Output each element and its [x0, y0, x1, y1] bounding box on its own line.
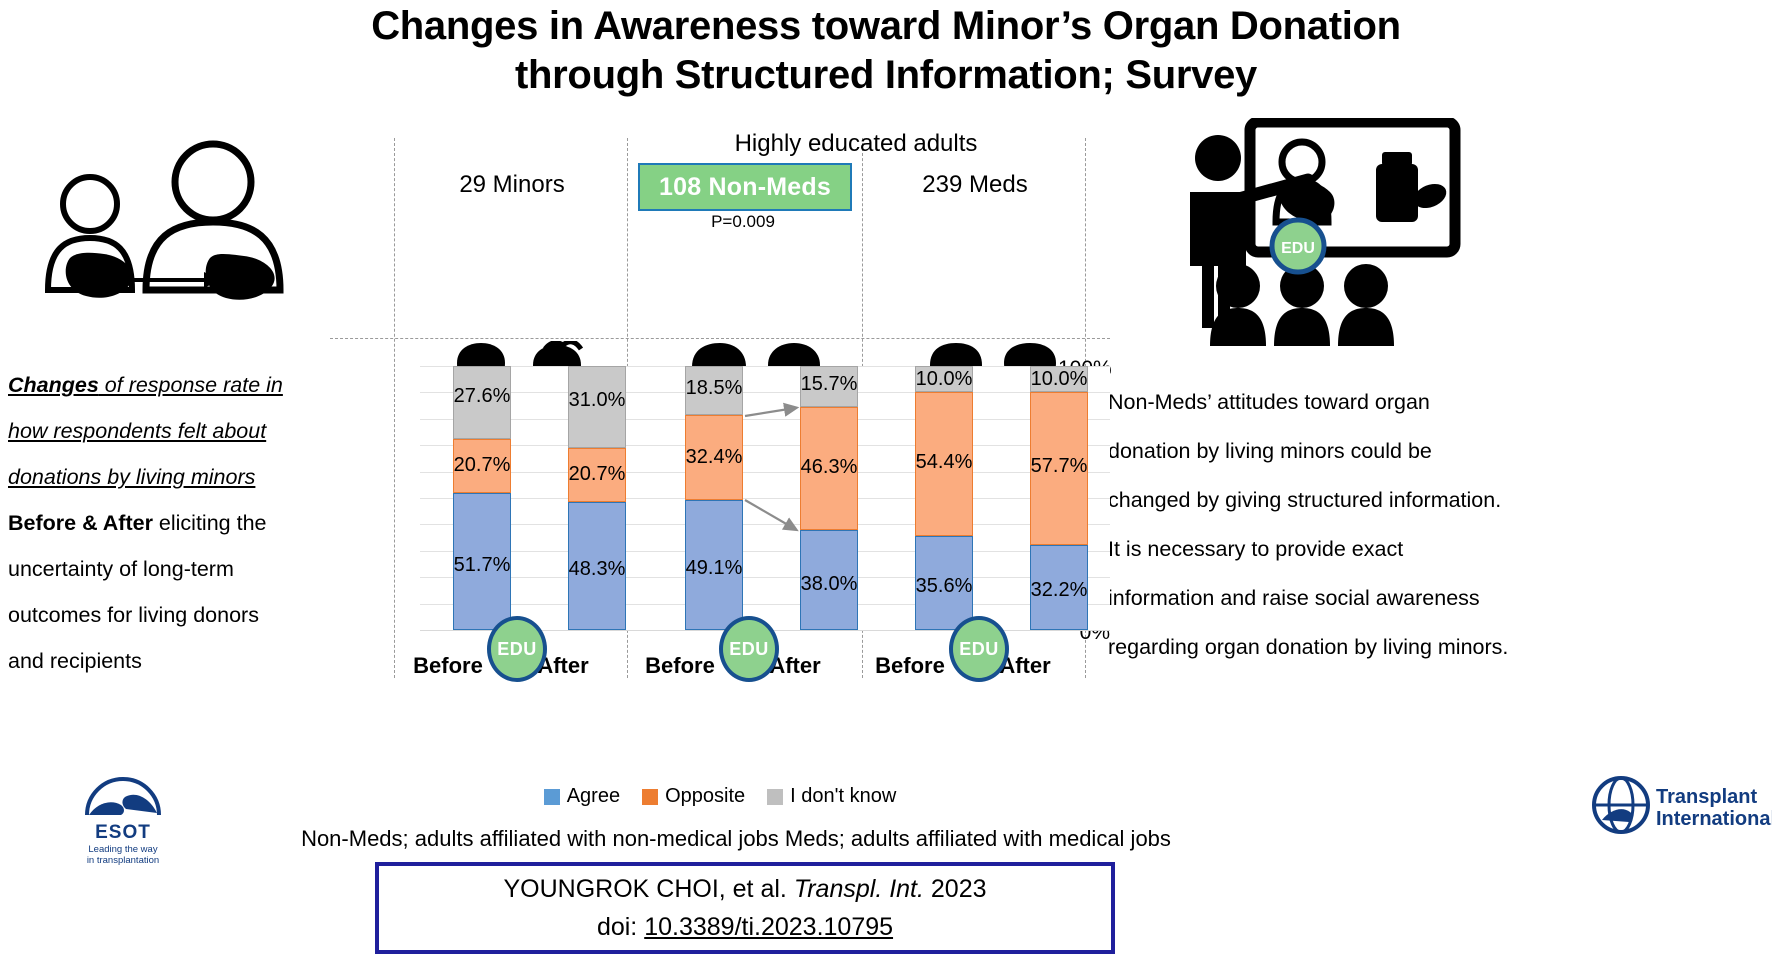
title-line-2: through Structured Information; Survey	[0, 51, 1772, 100]
left-text-line-7: and recipients	[8, 638, 328, 684]
svg-text:EDU: EDU	[1281, 240, 1315, 257]
title-line-1: Changes in Awareness toward Minor’s Orga…	[371, 4, 1401, 48]
legend-label-opposite: Opposite	[665, 785, 745, 808]
value-label-opposite: 46.3%	[801, 456, 858, 479]
citation-journal: Transpl. Int.	[794, 875, 924, 903]
gridline-70	[420, 445, 1110, 446]
segment-idk[interactable]: 10.0%	[1030, 366, 1088, 392]
citation-authors: YOUNGROK CHOI, et al.	[503, 875, 786, 903]
divider-horizontal	[330, 338, 1110, 339]
graphical-abstract-page: Changes in Awareness toward Minor’s Orga…	[0, 0, 1772, 964]
right-text-line-3: changed by giving structured information…	[1108, 476, 1768, 525]
chart-panel: Highly educated adults 29 Minors 108 Non…	[330, 128, 1110, 688]
value-label-agree: 49.1%	[686, 557, 743, 580]
value-label-idk: 10.0%	[916, 368, 973, 391]
esot-name: ESOT	[95, 822, 151, 844]
segment-agree[interactable]: 48.3%	[568, 502, 626, 630]
left-text-line-5: uncertainty of long-term	[8, 546, 328, 592]
xtick-minors-before: Before	[393, 653, 503, 679]
citation-box: YOUNGROK CHOI, et al. Transpl. Int. 2023…	[375, 862, 1115, 954]
left-description-text: Changes of response rate in how responde…	[8, 362, 328, 684]
legend-item-agree: Agree	[544, 785, 620, 808]
transplant-international-logo: Transplant International	[1590, 768, 1765, 880]
esot-tagline: Leading the way in transplantation	[87, 844, 159, 866]
value-label-idk: 27.6%	[454, 385, 511, 408]
bar-meds-after[interactable]: 10.0% 57.7% 32.2%	[1030, 366, 1088, 630]
doi-label: doi:	[597, 913, 637, 941]
segment-agree[interactable]: 32.2%	[1030, 545, 1088, 630]
value-label-idk: 31.0%	[569, 389, 626, 412]
highly-educated-label: Highly educated adults	[626, 130, 1086, 158]
bar-nonmeds-after[interactable]: 15.7% 46.3% 38.0%	[800, 366, 858, 630]
gridline-40	[420, 524, 1110, 525]
left-text-line-4: Before & After eliciting the	[8, 500, 328, 546]
legend-item-idk: I don't know	[767, 785, 896, 808]
group-label-minors: 29 Minors	[402, 171, 622, 199]
ti-line-2: International	[1656, 808, 1772, 830]
value-label-opposite: 54.4%	[916, 451, 973, 474]
segment-agree[interactable]: 35.6%	[915, 536, 973, 630]
education-teacher-icon: EDU	[1180, 118, 1470, 348]
legend-swatch-opposite-icon	[642, 789, 658, 805]
right-text-line-2: donation by living minors could be	[1108, 427, 1768, 476]
segment-agree[interactable]: 49.1%	[685, 500, 743, 630]
value-label-agree: 51.7%	[454, 554, 511, 577]
bar-minors-before[interactable]: 27.6% 20.7% 51.7%	[453, 366, 511, 630]
gridline-90	[420, 392, 1110, 393]
bar-minors-after[interactable]: 31.0% 20.7% 48.3%	[568, 366, 626, 630]
legend-label-agree: Agree	[567, 785, 620, 808]
legend-swatch-agree-icon	[544, 789, 560, 805]
xtick-nonmeds-before: Before	[625, 653, 735, 679]
chart-legend: Agree Opposite I don't know	[330, 785, 1110, 808]
left-text-line-2: how respondents felt about	[8, 408, 328, 454]
legend-item-opposite: Opposite	[642, 785, 745, 808]
value-label-agree: 35.6%	[916, 575, 973, 598]
plot-area: 27.6% 20.7% 51.7% 31.0% 20.7% 48.3%	[420, 366, 1110, 630]
gridline-60	[420, 472, 1110, 473]
value-label-agree: 48.3%	[569, 558, 626, 581]
value-label-idk: 15.7%	[801, 373, 858, 396]
edu-badge-meds[interactable]: EDU	[949, 616, 1009, 682]
right-text-line-4: It is necessary to provide exact	[1108, 525, 1768, 574]
esot-logo: ESOT Leading the way in transplantation	[38, 765, 208, 880]
bar-nonmeds-before[interactable]: 18.5% 32.4% 49.1%	[685, 366, 743, 630]
left-text-line-3: donations by living minors	[8, 454, 328, 500]
stacked-bar-chart: 100% 90% 80% 70% 60% 50% 40% 30% 20% 10%…	[365, 366, 1110, 638]
page-title: Changes in Awareness toward Minor’s Orga…	[0, 2, 1772, 100]
ti-line-1: Transplant	[1656, 786, 1772, 808]
value-label-opposite: 20.7%	[569, 463, 626, 486]
segment-idk[interactable]: 27.6%	[453, 366, 511, 439]
right-text-line-6: regarding organ donation by living minor…	[1108, 623, 1768, 672]
value-label-opposite: 57.7%	[1031, 455, 1088, 478]
group-label-nonmeds-highlight[interactable]: 108 Non-Meds	[638, 163, 852, 211]
doi-link[interactable]: 10.3389/ti.2023.10795	[644, 913, 893, 941]
citation-line-2: doi: 10.3389/ti.2023.10795	[597, 908, 893, 946]
gridline-50	[420, 498, 1110, 499]
footnote-definitions: Non-Meds; adults affiliated with non-med…	[0, 826, 1472, 852]
arrow-idk-change	[745, 408, 795, 416]
value-label-opposite: 32.4%	[686, 446, 743, 469]
gridline-20	[420, 577, 1110, 578]
right-conclusion-text: Non-Meds’ attitudes toward organ donatio…	[1108, 378, 1768, 672]
gridline-30	[420, 551, 1110, 552]
segment-opposite[interactable]: 54.4%	[915, 392, 973, 536]
segment-opposite[interactable]: 32.4%	[685, 415, 743, 501]
liver-donation-icon	[28, 140, 328, 335]
gridline-100	[420, 366, 1110, 367]
segment-idk[interactable]: 15.7%	[800, 366, 858, 407]
value-label-agree: 38.0%	[801, 573, 858, 596]
segment-agree[interactable]: 51.7%	[453, 493, 511, 630]
citation-line-1: YOUNGROK CHOI, et al. Transpl. Int. 2023	[503, 870, 986, 908]
group-label-meds: 239 Meds	[875, 171, 1075, 199]
value-label-agree: 32.2%	[1031, 579, 1088, 602]
right-text-line-1: Non-Meds’ attitudes toward organ	[1108, 378, 1768, 427]
esot-tagline-line1: Leading the way	[88, 844, 157, 855]
transplant-globe-icon	[1590, 774, 1652, 836]
gridline-10	[420, 604, 1110, 605]
segment-idk[interactable]: 31.0%	[568, 366, 626, 448]
segment-opposite[interactable]: 20.7%	[568, 448, 626, 503]
segment-opposite[interactable]: 46.3%	[800, 407, 858, 529]
bar-meds-before[interactable]: 10.0% 54.4% 35.6%	[915, 366, 973, 630]
gridline-80	[420, 419, 1110, 420]
segment-opposite[interactable]: 20.7%	[453, 439, 511, 494]
segment-idk[interactable]: 18.5%	[685, 366, 743, 415]
edu-badge-minors[interactable]: EDU	[487, 616, 547, 682]
value-label-idk: 18.5%	[686, 377, 743, 400]
left-text-line-1: Changes of response rate in	[8, 362, 328, 408]
right-text-line-5: information and raise social awareness	[1108, 574, 1768, 623]
esot-tagline-line2: in transplantation	[87, 855, 159, 866]
left-text-line-6: outcomes for living donors	[8, 592, 328, 638]
segment-idk[interactable]: 10.0%	[915, 366, 973, 392]
xtick-meds-before: Before	[855, 653, 965, 679]
segment-opposite[interactable]: 57.7%	[1030, 392, 1088, 544]
value-label-opposite: 20.7%	[454, 454, 511, 477]
value-label-idk: 10.0%	[1031, 368, 1088, 391]
citation-year: 2023	[931, 875, 987, 903]
segment-agree[interactable]: 38.0%	[800, 530, 858, 630]
legend-label-idk: I don't know	[790, 785, 896, 808]
legend-swatch-idk-icon	[767, 789, 783, 805]
pvalue-label: P=0.009	[663, 212, 823, 232]
edu-badge-nonmeds[interactable]: EDU	[719, 616, 779, 682]
esot-mark-icon	[81, 765, 165, 821]
